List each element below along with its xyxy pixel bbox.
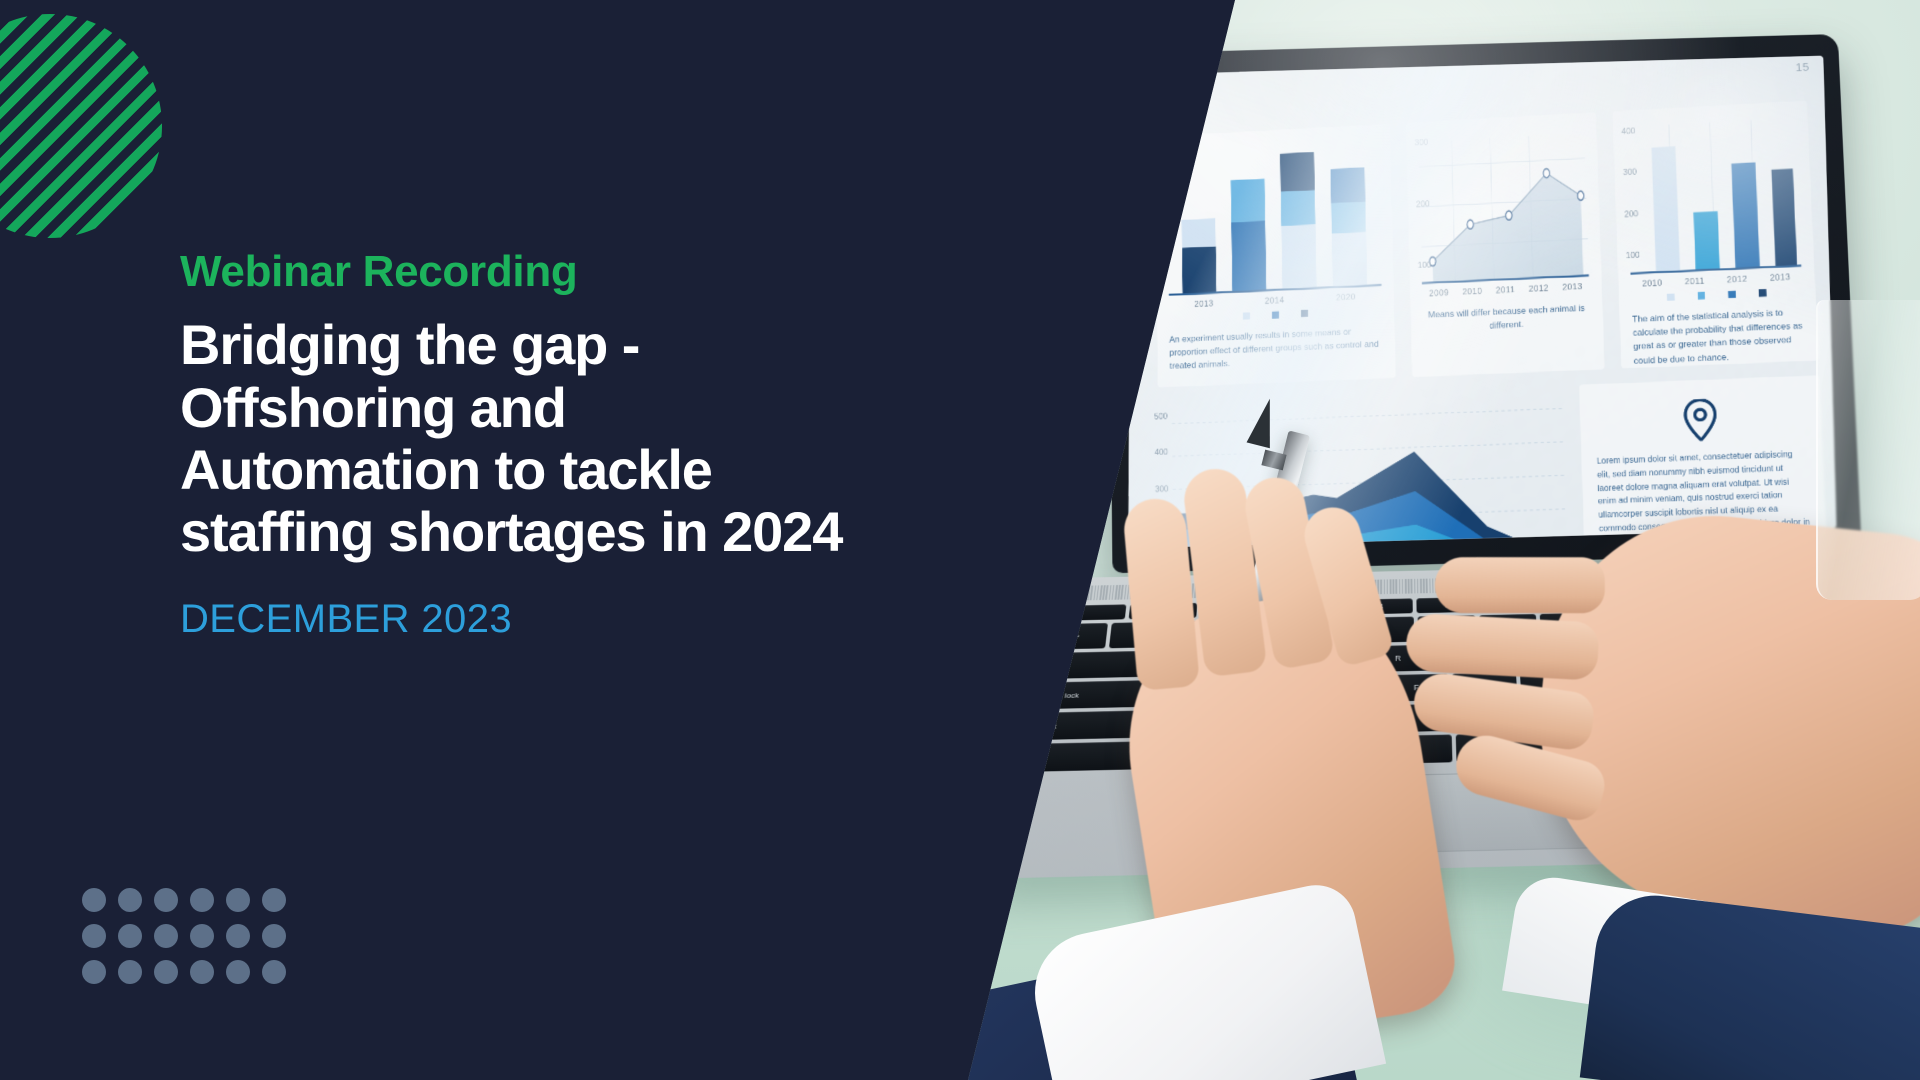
legend-swatch bbox=[1300, 310, 1307, 317]
bar-chart-2-svg bbox=[1625, 111, 1801, 272]
legend-swatch bbox=[1728, 291, 1736, 299]
water-glass bbox=[1816, 300, 1920, 600]
line-chart-svg bbox=[1418, 123, 1589, 282]
grid-dot bbox=[118, 924, 142, 948]
location-pin-icon bbox=[1681, 398, 1719, 441]
copy-block: Webinar Recording Bridging the gap - Off… bbox=[180, 248, 1040, 642]
axis-tick: 100 bbox=[1418, 260, 1432, 270]
bar-chart-2-legend bbox=[1631, 288, 1802, 303]
axis-tick: 300 bbox=[1414, 138, 1428, 148]
chart-card-line: 300 200 100 bbox=[1406, 112, 1605, 377]
webinar-banner: 15 2013 2014 bbox=[0, 0, 1920, 1080]
grid-dot bbox=[82, 924, 106, 948]
striped-circle-icon bbox=[0, 14, 162, 238]
axis-tick: 400 bbox=[1621, 126, 1635, 136]
axis-tick: 100 bbox=[1626, 250, 1640, 260]
axis-tick: 2013 bbox=[1194, 299, 1213, 309]
headline-line-1: Bridging the gap - bbox=[180, 314, 1040, 376]
axis-tick: 500 bbox=[1154, 412, 1167, 422]
card-caption: An experiment usually results in some me… bbox=[1169, 324, 1383, 373]
axis-tick: 2011 bbox=[1496, 285, 1516, 295]
bar-group bbox=[1182, 218, 1217, 293]
eyebrow-label: Webinar Recording bbox=[180, 248, 1040, 296]
finger bbox=[1405, 613, 1600, 681]
legend-swatch bbox=[1759, 289, 1767, 297]
bar-group bbox=[1280, 152, 1317, 289]
legend-swatch bbox=[1271, 311, 1278, 318]
headline-line-3: Automation to tackle bbox=[180, 439, 1040, 501]
bar-group bbox=[1231, 179, 1267, 291]
grid-dot bbox=[82, 960, 106, 984]
line-chart: 300 200 100 bbox=[1418, 123, 1589, 284]
grid-dot bbox=[226, 924, 250, 948]
grid-dot bbox=[118, 960, 142, 984]
axis-tick: 2011 bbox=[1685, 276, 1705, 286]
grid-dot bbox=[154, 888, 178, 912]
grid-dot bbox=[82, 888, 106, 912]
page-number: 15 bbox=[1795, 61, 1810, 74]
laptop-screen: 15 2013 2014 bbox=[1128, 56, 1836, 548]
page-title: Bridging the gap - Offshoring and Automa… bbox=[180, 314, 1040, 563]
axis-tick: 2010 bbox=[1642, 278, 1663, 288]
bar-group bbox=[1330, 167, 1367, 286]
axis-tick: 200 bbox=[1624, 209, 1638, 219]
grid-dot bbox=[190, 924, 214, 948]
grid-dot bbox=[262, 888, 286, 912]
grid-dot bbox=[226, 888, 250, 912]
grid-dot bbox=[226, 960, 250, 984]
grid-dot bbox=[154, 960, 178, 984]
axis-tick: 300 bbox=[1623, 168, 1637, 178]
headline-line-2: Offshoring and bbox=[180, 377, 1040, 439]
axis-tick: 2010 bbox=[1462, 287, 1482, 297]
dashboard-top-row: 2013 2014 2020 An experiment usually res… bbox=[1155, 101, 1819, 388]
axis-tick: 2014 bbox=[1265, 296, 1285, 306]
legend-swatch bbox=[1242, 313, 1249, 320]
card-caption: The aim of the statistical analysis is t… bbox=[1632, 305, 1806, 367]
grid-dot bbox=[190, 960, 214, 984]
grid-dot bbox=[118, 888, 142, 912]
line-chart-xaxis: 2009 2010 2011 2012 2013 bbox=[1422, 282, 1589, 299]
axis-tick: 200 bbox=[1416, 199, 1430, 209]
grid-dot bbox=[262, 924, 286, 948]
axis-tick: 2020 bbox=[1336, 292, 1356, 302]
headline-line-4: staffing shortages in 2024 bbox=[180, 501, 1040, 563]
legend-swatch bbox=[1698, 292, 1706, 300]
bar-chart-legend bbox=[1169, 307, 1382, 324]
card-caption: Means will differ because each animal is… bbox=[1423, 301, 1591, 336]
bar-chart bbox=[1167, 134, 1382, 296]
grid-dot bbox=[154, 924, 178, 948]
grid-dot bbox=[190, 888, 214, 912]
axis-tick: 2009 bbox=[1429, 288, 1449, 298]
axis-tick: 2012 bbox=[1529, 284, 1549, 294]
axis-tick: 2013 bbox=[1770, 272, 1791, 282]
axis-tick: 2012 bbox=[1727, 274, 1748, 284]
dot-grid-decoration bbox=[82, 888, 298, 996]
dashboard: 15 2013 2014 bbox=[1128, 56, 1836, 548]
axis-tick: 2013 bbox=[1562, 282, 1582, 292]
chart-card-bar-2: 400 300 200 100 bbox=[1612, 101, 1818, 369]
legend-swatch bbox=[1667, 293, 1675, 301]
bar-chart-2: 400 300 200 100 bbox=[1625, 111, 1801, 274]
grid-dot bbox=[262, 960, 286, 984]
finger bbox=[1435, 557, 1605, 613]
axis-tick: 400 bbox=[1155, 448, 1168, 458]
axis-tick: 300 bbox=[1155, 484, 1168, 494]
date-label: DECEMBER 2023 bbox=[180, 597, 1040, 642]
bar-chart-2-xaxis: 2010 2011 2012 2013 bbox=[1631, 272, 1802, 289]
